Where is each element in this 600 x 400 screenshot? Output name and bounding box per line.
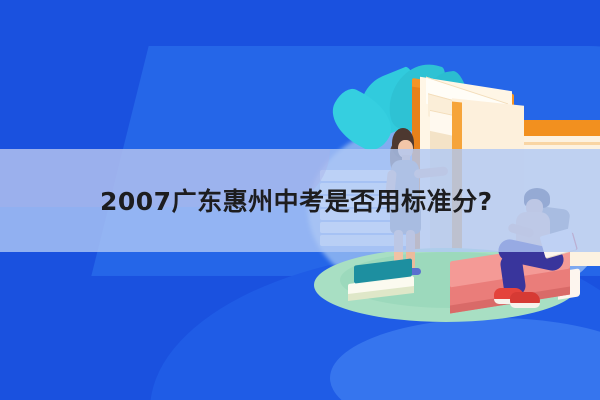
reader-sneaker-sole (510, 303, 540, 308)
banner-image: 2007广东惠州中考是否用标准分? (0, 0, 600, 400)
page-title: 2007广东惠州中考是否用标准分? (100, 150, 560, 250)
teal-book-stack (348, 258, 420, 304)
